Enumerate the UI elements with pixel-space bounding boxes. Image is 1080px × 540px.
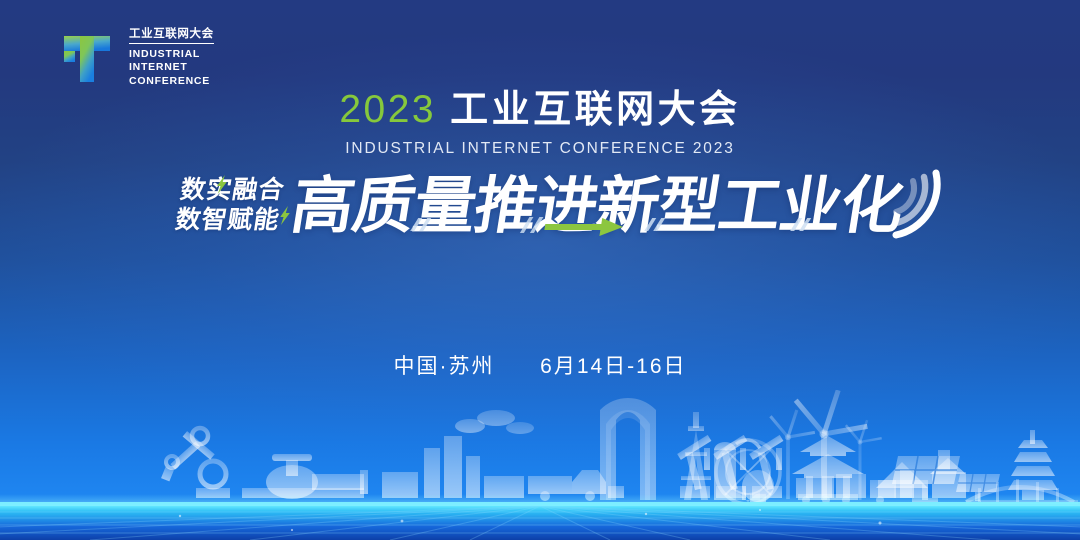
logo-lockup: 工业互联网大会 INDUSTRIAL INTERNET CONFERENCE: [56, 28, 214, 90]
meta-location: 中国·苏州: [393, 355, 494, 378]
slogan-line-2: 数智赋能: [174, 208, 282, 233]
gate-of-the-orient-icon: [600, 398, 656, 500]
title-year: 2023: [339, 90, 436, 129]
logo-en-line-1: INDUSTRIAL: [129, 48, 214, 62]
meta-line: 中国·苏州 6月14日-16日: [0, 350, 1080, 380]
perspective-ground-grid: [0, 494, 1080, 540]
industrial-valve-icon: [242, 454, 368, 499]
headline-main: 高质量推进新型工业化: [287, 176, 907, 238]
logo-en-line-3: CONFERENCE: [129, 75, 214, 89]
speed-lines-icon: [405, 215, 448, 235]
slogan-line-1-text: 数实融合: [179, 176, 287, 204]
factory-smokestacks-icon: [382, 410, 534, 498]
wifi-signal-arcs-icon: [880, 167, 950, 239]
logo-cn-name: 工业互联网大会: [129, 29, 214, 44]
logo-text: 工业互联网大会 INDUSTRIAL INTERNET CONFERENCE: [129, 29, 214, 88]
slogan-line-1: 数实融合: [179, 178, 287, 203]
logo-en-name: INDUSTRIAL INTERNET CONFERENCE: [129, 48, 214, 89]
slogan-line-2-text: 数智赋能: [174, 206, 282, 234]
industrial-internet-conference-logo-icon: [56, 28, 118, 90]
slogan-stack: 数实融合 数智赋能: [174, 178, 287, 233]
speed-lines-icon: [785, 215, 828, 235]
green-arrow-icon: [517, 214, 628, 236]
title-block: 2023 工业互联网大会 INDUSTRIAL INTERNET CONFERE…: [0, 90, 1080, 158]
conference-poster: 工业互联网大会 INDUSTRIAL INTERNET CONFERENCE 2…: [0, 0, 1080, 540]
city-industry-skyline: [0, 390, 1080, 540]
robot-arm-icon: [161, 428, 230, 498]
meta-date: 6月14日-16日: [540, 355, 686, 378]
title-cn: 工业互联网大会: [450, 91, 741, 129]
logo-en-line-2: INTERNET: [129, 61, 214, 75]
title-row: 2023 工业互联网大会: [339, 90, 740, 129]
speed-lines-icon: [639, 215, 682, 235]
title-en: INDUSTRIAL INTERNET CONFERENCE 2023: [0, 140, 1080, 158]
